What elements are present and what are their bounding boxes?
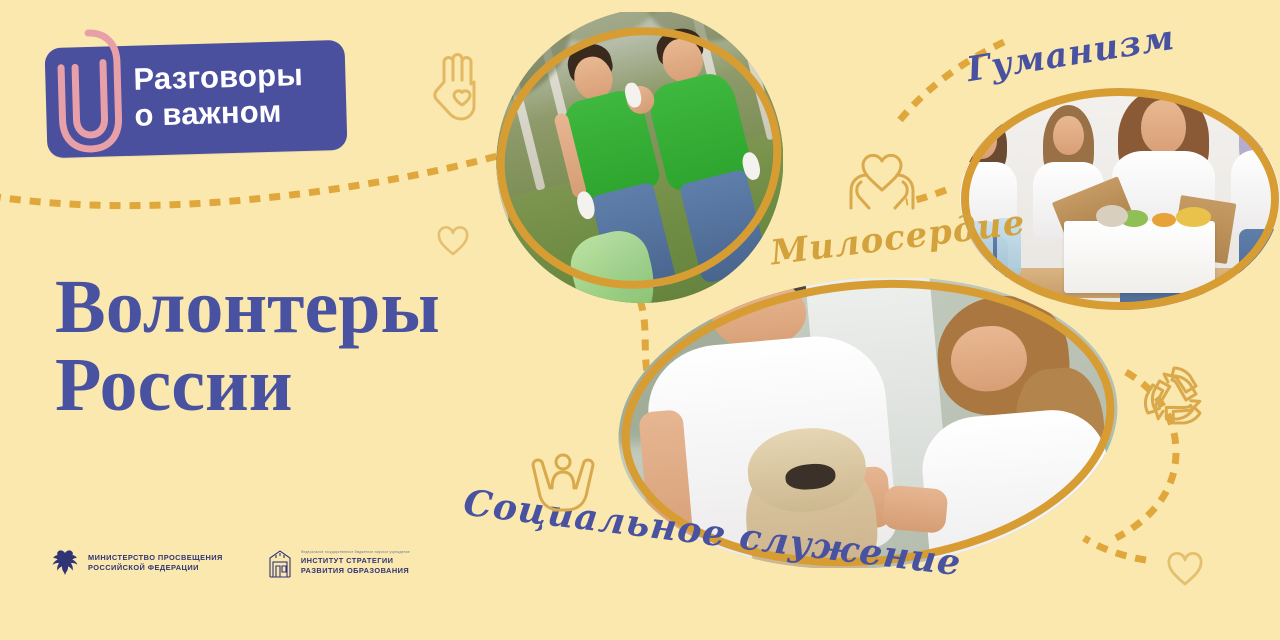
ministry-of-education-logo: МИНИСТЕРСТВО ПРОСВЕЩЕНИЯ РОССИЙСКОЙ ФЕДЕ… (50, 549, 223, 577)
label-humanism: Гуманизм (964, 18, 1177, 90)
hands-holding-heart-icon (843, 142, 921, 216)
institute-line-1: ИНСТИТУТ СТРАТЕГИИ (301, 556, 410, 566)
badge-line-2: о важном (134, 92, 340, 134)
ministry-line-1: МИНИСТЕРСТВО ПРОСВЕЩЕНИЯ (88, 553, 223, 563)
title-line-2: России (55, 346, 575, 424)
paperclip-icon (42, 22, 138, 160)
photo-donation-box (960, 88, 1280, 310)
institute-tiny-line: Федеральное государственное бюджетное на… (301, 550, 410, 555)
heart-outline-icon (436, 226, 470, 258)
footer-logos: МИНИСТЕРСТВО ПРОСВЕЩЕНИЯ РОССИЙСКОЙ ФЕДЕ… (50, 548, 410, 578)
institute-line-2: РАЗВИТИЯ ОБРАЗОВАНИЯ (301, 566, 410, 576)
program-logo-badge: Разговоры о важном (45, 40, 348, 158)
institute-logo: Федеральное государственное бюджетное на… (267, 548, 410, 578)
badge-line-1: Разговоры (133, 56, 339, 98)
heart-outline-icon (1166, 552, 1204, 588)
ministry-line-2: РОССИЙСКОЙ ФЕДЕРАЦИИ (88, 563, 223, 573)
photo-volunteers-cleanup (495, 12, 783, 304)
hand-with-heart-icon (424, 52, 486, 122)
double-headed-eagle-emblem-icon (50, 549, 80, 577)
hands-recycle-circle-icon (1134, 358, 1214, 438)
institute-building-icon (267, 548, 293, 578)
slide-canvas: Разговоры о важном Волонтеры России (0, 0, 1280, 640)
badge-text: Разговоры о важном (133, 56, 340, 134)
hands-holding-person-icon (522, 440, 604, 518)
